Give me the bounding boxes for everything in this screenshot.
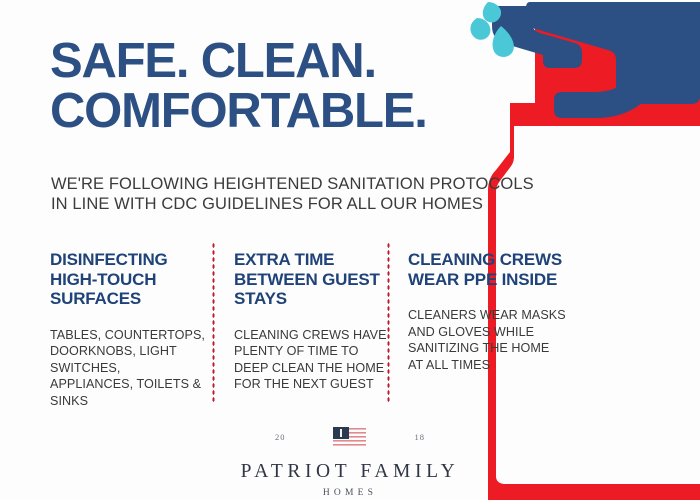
feature-body: CLEANERS WEAR MASKS AND GLOVES WHILE SAN… (408, 307, 566, 373)
feature-column: EXTRA TIME BETWEEN GUEST STAYS CLEANING … (234, 250, 394, 393)
feature-title: DISINFECTING HIGH-TOUCH SURFACES (50, 250, 205, 309)
spray-nozzle-body (526, 2, 700, 104)
feature-column: DISINFECTING HIGH-TOUCH SURFACES TABLES,… (50, 250, 205, 409)
feature-columns: DISINFECTING HIGH-TOUCH SURFACES TABLES,… (50, 250, 570, 410)
page-title: SAFE. CLEAN. COMFORTABLE. (50, 36, 520, 136)
brand-logo: 20 18 PATRIOT FAMILY HOMES (0, 425, 700, 498)
page-subtitle: WE'RE FOLLOWING HEIGHTENED SANITATION PR… (51, 174, 551, 214)
logo-year-left: 20 (275, 432, 286, 442)
headline-line-1: SAFE. CLEAN. (50, 36, 520, 86)
spray-trigger-icon (554, 54, 653, 118)
logo-mark: 20 18 (265, 425, 435, 451)
subhead-line-1: WE'RE FOLLOWING HEIGHTENED SANITATION PR… (51, 174, 551, 194)
feature-body: CLEANING CREWS HAVE PLENTY OF TIME TO DE… (234, 327, 394, 393)
logo-subwordmark: HOMES (0, 488, 700, 498)
poster-canvas: SAFE. CLEAN. COMFORTABLE. WE'RE FOLLOWIN… (0, 0, 700, 500)
feature-body: TABLES, COUNTERTOPS, DOORKNOBS, LIGHT SW… (50, 327, 205, 410)
feature-title: EXTRA TIME BETWEEN GUEST STAYS (234, 250, 394, 309)
logo-wordmark: PATRIOT FAMILY (0, 461, 700, 483)
subhead-line-2: IN LINE WITH CDC GUIDELINES FOR ALL OUR … (51, 194, 551, 214)
feature-title: CLEANING CREWS WEAR PPE INSIDE (408, 250, 566, 289)
feature-column: CLEANING CREWS WEAR PPE INSIDE CLEANERS … (408, 250, 566, 373)
logo-year-right: 18 (415, 432, 426, 442)
headline-line-2: COMFORTABLE. (50, 86, 520, 136)
american-flag-icon (323, 425, 377, 451)
column-divider (212, 242, 215, 404)
column-divider (387, 242, 390, 404)
